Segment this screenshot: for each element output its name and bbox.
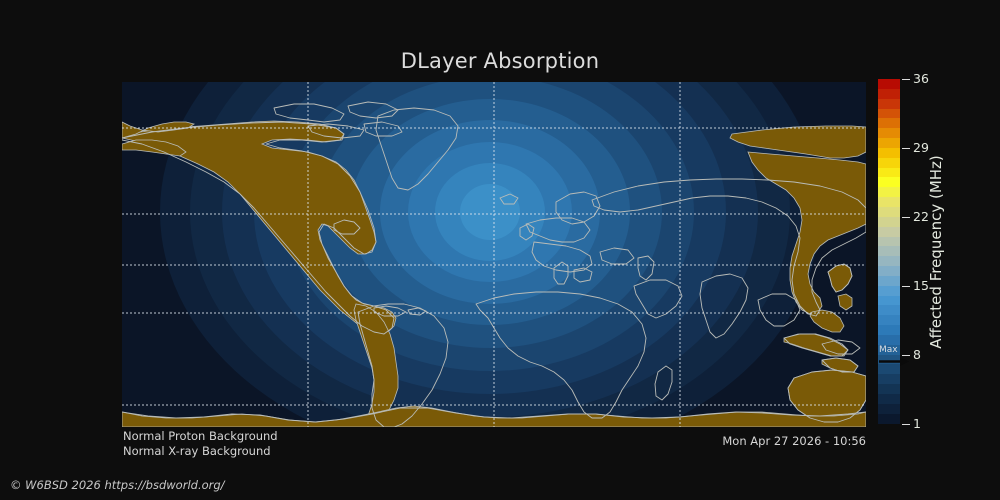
colorbar-band — [878, 286, 900, 296]
colorbar-tick-label: 8 — [913, 349, 921, 362]
colorbar-band — [878, 404, 900, 414]
colorbar-tick-mark — [902, 286, 910, 287]
colorbar-band — [878, 138, 900, 148]
colorbar-band — [878, 266, 900, 276]
colorbar-band — [878, 187, 900, 197]
colorbar-tick-label: 1 — [913, 418, 921, 431]
colorbar-axis-label: Affected Frequency (MHz) — [925, 79, 947, 424]
colorbar-band — [878, 414, 900, 424]
colorbar-gradient — [878, 79, 900, 424]
colorbar-band — [878, 158, 900, 168]
page-root: DLayer Absorption — [0, 0, 1000, 500]
colorbar-band — [878, 276, 900, 286]
colorbar-band — [878, 256, 900, 266]
colorbar-band — [878, 237, 900, 247]
colorbar-band — [878, 355, 900, 365]
colorbar-band — [878, 168, 900, 178]
colorbar-band — [878, 207, 900, 217]
colorbar-tick-mark — [902, 79, 910, 80]
colorbar-band — [878, 217, 900, 227]
colorbar-band — [878, 246, 900, 256]
colorbar-band — [878, 227, 900, 237]
colorbar-band — [878, 128, 900, 138]
colorbar-band — [878, 315, 900, 325]
colorbar-band — [878, 384, 900, 394]
page-title: DLayer Absorption — [0, 49, 1000, 73]
status-proton-background: Normal Proton Background — [123, 429, 278, 444]
colorbar-band — [878, 118, 900, 128]
colorbar-axis-label-text: Affected Frequency (MHz) — [927, 155, 945, 349]
colorbar-band — [878, 374, 900, 384]
colorbar-band — [878, 296, 900, 306]
colorbar[interactable]: Max 3629221581 — [878, 79, 900, 424]
colorbar-band — [878, 197, 900, 207]
colorbar-band — [878, 79, 900, 89]
colorbar-band — [878, 99, 900, 109]
colorbar-band — [878, 89, 900, 99]
colorbar-band — [878, 177, 900, 187]
colorbar-tick-mark — [902, 217, 910, 218]
world-map-svg — [122, 82, 866, 427]
colorbar-band — [878, 148, 900, 158]
status-block: Normal Proton Background Normal X-ray Ba… — [123, 429, 278, 458]
colorbar-band — [878, 394, 900, 404]
colorbar-band — [878, 335, 900, 345]
copyright-notice: © W6BSD 2026 https://bsdworld.org/ — [10, 478, 225, 492]
colorbar-band — [878, 325, 900, 335]
colorbar-tick-mark — [902, 148, 910, 149]
status-xray-background: Normal X-ray Background — [123, 444, 278, 459]
colorbar-tick-mark — [902, 355, 910, 356]
colorbar-band — [878, 305, 900, 315]
colorbar-tick-mark — [902, 424, 910, 425]
timestamp: Mon Apr 27 2026 - 10:56 — [560, 434, 866, 448]
colorbar-band — [878, 364, 900, 374]
colorbar-band — [878, 345, 900, 355]
colorbar-band — [878, 109, 900, 119]
world-map-panel[interactable] — [122, 82, 866, 427]
